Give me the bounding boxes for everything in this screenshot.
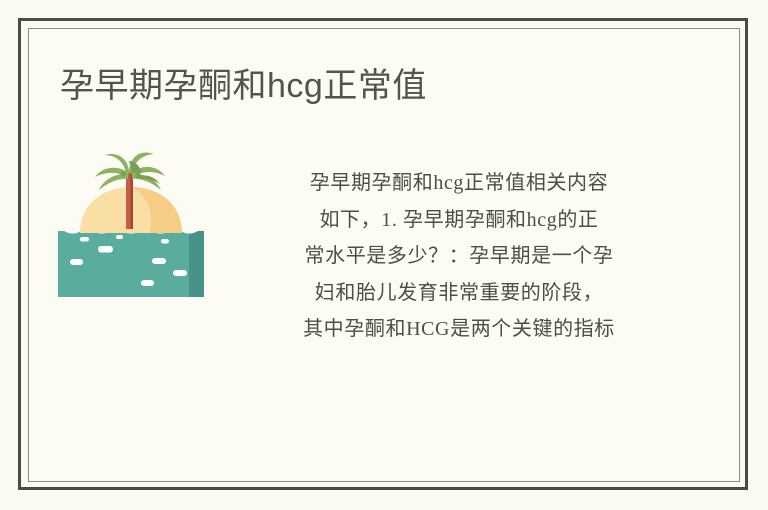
article-body: 孕早期孕酮和hcg正常值相关内容 如下，1. 孕早期孕酮和hcg的正 常水平是多… (234, 165, 684, 348)
page-title: 孕早期孕酮和hcg正常值 (60, 65, 427, 107)
article-card: 孕早期孕酮和hcg正常值 (29, 29, 739, 481)
body-line: 常水平是多少？：孕早期是一个孕 (234, 238, 684, 275)
body-line: 妇和胎儿发育非常重要的阶段， (234, 275, 684, 312)
body-line: 如下，1. 孕早期孕酮和hcg的正 (234, 202, 684, 239)
page-root: 孕早期孕酮和hcg正常值 (0, 0, 768, 510)
body-line: 孕早期孕酮和hcg正常值相关内容 (234, 165, 684, 202)
island-with-palm-tree-icon (58, 149, 204, 297)
body-line: 其中孕酮和HCG是两个关键的指标 (234, 311, 684, 348)
